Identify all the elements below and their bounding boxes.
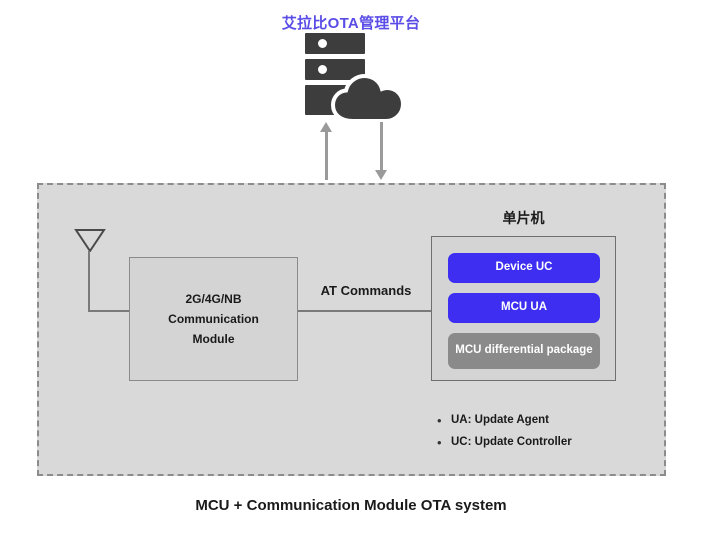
legend-item-ua: • UA: Update Agent — [437, 414, 637, 427]
server-led-dot — [318, 39, 327, 48]
block-device-uc: Device UC — [448, 253, 600, 283]
legend-item-label: UA: Update Agent — [451, 414, 549, 426]
server-led-dot — [318, 65, 327, 74]
arrow-up-icon — [320, 122, 333, 180]
legend-item-label: UC: Update Controller — [451, 436, 572, 448]
legend-item-uc: • UC: Update Controller — [437, 436, 637, 449]
bullet-icon: • — [437, 436, 451, 449]
communication-module-box: 2G/4G/NB Communication Module — [129, 257, 298, 381]
legend: • UA: Update Agent • UC: Update Controll… — [437, 414, 637, 458]
antenna-connector-line — [88, 310, 134, 312]
bullet-icon: • — [437, 414, 451, 427]
page-title: 艾拉比OTA管理平台 — [0, 12, 702, 33]
arrow-down-icon — [375, 122, 388, 180]
antenna-connector-line — [88, 251, 90, 312]
mcu-title: 单片机 — [431, 208, 616, 228]
mcu-box: Device UC MCU UA MCU differential packag… — [431, 236, 616, 381]
at-commands-label: AT Commands — [305, 283, 427, 298]
block-mcu-differential-package: MCU differential package — [448, 333, 600, 369]
block-mcu-ua: MCU UA — [448, 293, 600, 323]
comm-module-line-1: 2G/4G/NB — [185, 293, 241, 305]
comm-module-line-2: Communication — [168, 313, 259, 325]
at-commands-connector-line — [298, 310, 431, 312]
server-rack-icon — [305, 33, 365, 54]
comm-module-line-3: Module — [193, 333, 235, 345]
antenna-icon — [74, 228, 106, 252]
cloud-icon — [331, 74, 405, 122]
diagram-caption: MCU + Communication Module OTA system — [0, 497, 702, 514]
server-cloud-icon — [305, 33, 405, 118]
